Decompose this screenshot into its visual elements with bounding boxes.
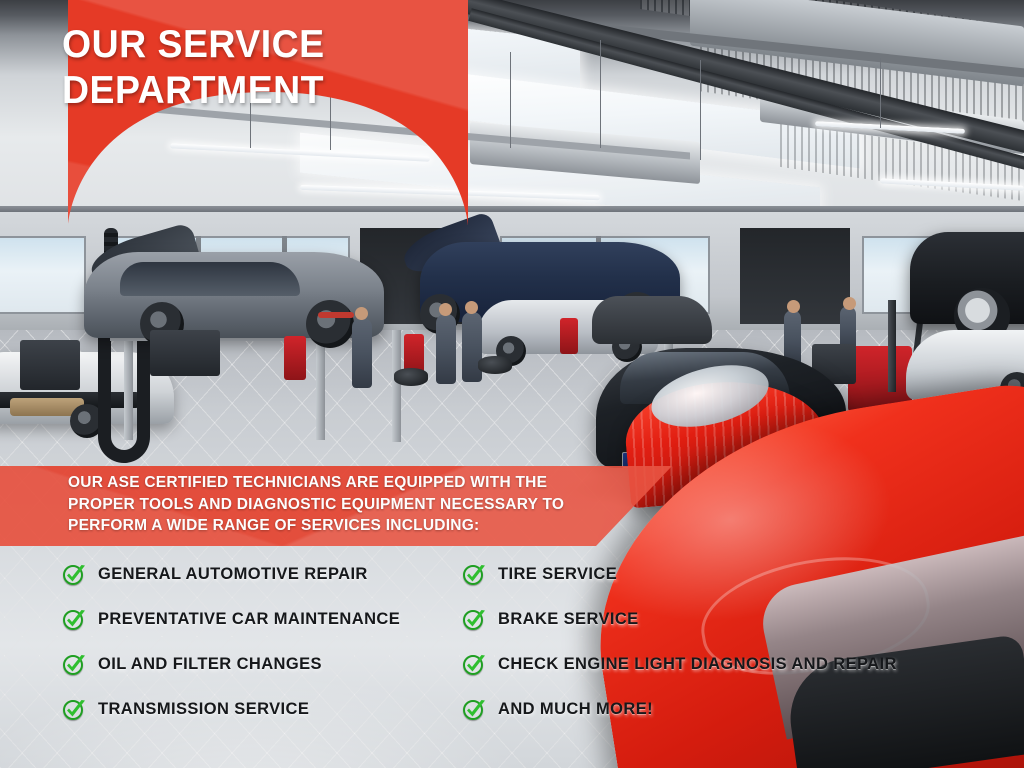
green-check-icon [462, 562, 488, 588]
services-right-column: TIRE SERVICE BRAKE SERVICE CHECK ENGINE … [462, 552, 1002, 732]
page-title: OUR SERVICE DEPARTMENT [62, 22, 379, 114]
technician-head [465, 301, 478, 314]
services-left-column: GENERAL AUTOMOTIVE REPAIR PREVENTATIVE C… [62, 552, 462, 732]
vehicle-lift-post [124, 336, 133, 440]
technician-head [355, 307, 368, 320]
services-checklist: GENERAL AUTOMOTIVE REPAIR PREVENTATIVE C… [0, 552, 1024, 732]
ceiling-hanger-rod [880, 58, 881, 128]
tool-cabinet [150, 330, 220, 376]
lift-column [888, 300, 896, 392]
car-taillight [318, 312, 354, 318]
vehicle-lift-post [316, 336, 325, 440]
page-title-line-1: OUR SERVICE [62, 22, 379, 68]
technician [436, 314, 456, 384]
jack-stand [560, 318, 578, 354]
technician-head [439, 303, 452, 316]
jack-stand [284, 336, 306, 380]
statement-line-3: PERFORM A WIDE RANGE OF SERVICES INCLUDI… [68, 515, 608, 537]
ceiling-hanger-rod [600, 40, 601, 148]
technician-head [787, 300, 800, 313]
statement-text: OUR ASE CERTIFIED TECHNICIANS ARE EQUIPP… [68, 472, 608, 537]
service-item: TIRE SERVICE [462, 552, 1002, 597]
service-item: OIL AND FILTER CHANGES [62, 642, 462, 687]
tire-on-floor [394, 368, 428, 386]
statement-line-1: OUR ASE CERTIFIED TECHNICIANS ARE EQUIPP… [68, 472, 608, 494]
window-pane [0, 236, 86, 314]
service-label: GENERAL AUTOMOTIVE REPAIR [98, 565, 368, 584]
service-item: TRANSMISSION SERVICE [62, 687, 462, 732]
green-check-icon [62, 652, 88, 678]
service-label: PREVENTATIVE CAR MAINTENANCE [98, 610, 400, 629]
service-item: AND MUCH MORE! [462, 687, 1002, 732]
service-label: TRANSMISSION SERVICE [98, 700, 309, 719]
service-label: AND MUCH MORE! [498, 700, 653, 719]
green-check-icon [62, 562, 88, 588]
green-check-icon [462, 607, 488, 633]
vehicle-lift-post [392, 330, 401, 442]
service-item: CHECK ENGINE LIGHT DIAGNOSIS AND REPAIR [462, 642, 1002, 687]
green-check-icon [462, 652, 488, 678]
page-title-line-2: DEPARTMENT [62, 68, 379, 114]
service-item: GENERAL AUTOMOTIVE REPAIR [62, 552, 462, 597]
service-label: BRAKE SERVICE [498, 610, 639, 629]
service-label: OIL AND FILTER CHANGES [98, 655, 322, 674]
green-check-icon [462, 697, 488, 723]
tool-cabinet [20, 340, 80, 390]
statement-line-2: PROPER TOOLS AND DIAGNOSTIC EQUIPMENT NE… [68, 494, 608, 516]
car-wheel [306, 300, 354, 348]
service-department-poster: EB 20 UAJ OUR SERVICE DEPARTMENT OUR ASE… [0, 0, 1024, 768]
ceiling-hanger-rod [700, 60, 701, 160]
car-windshield [120, 262, 300, 296]
technician [352, 318, 372, 388]
service-item: BRAKE SERVICE [462, 597, 1002, 642]
ceiling-hanger-rod [510, 52, 511, 148]
service-item: PREVENTATIVE CAR MAINTENANCE [62, 597, 462, 642]
tire-on-floor [478, 356, 512, 374]
green-check-icon [62, 697, 88, 723]
service-label: CHECK ENGINE LIGHT DIAGNOSIS AND REPAIR [498, 655, 897, 674]
technician-head [843, 297, 856, 310]
technician [462, 312, 482, 382]
service-label: TIRE SERVICE [498, 565, 617, 584]
dark-car-rear [592, 296, 712, 344]
green-check-icon [62, 607, 88, 633]
